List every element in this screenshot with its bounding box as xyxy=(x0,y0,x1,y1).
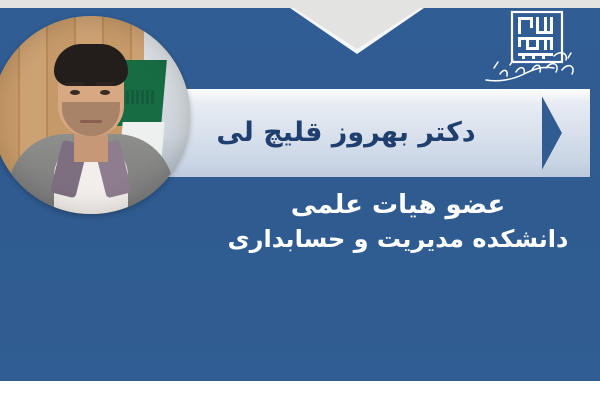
name-ribbon: دکتر بهروز قلیچ لی xyxy=(150,89,590,177)
university-logo xyxy=(482,10,586,90)
portrait-photo xyxy=(0,16,190,214)
role-title: عضو هیات علمی xyxy=(196,190,600,222)
role-block: عضو هیات علمی دانشکده مدیریت و حسابداری xyxy=(196,190,600,254)
faculty-name: دکتر بهروز قلیچ لی xyxy=(150,89,542,177)
faculty-profile-card: دکتر بهروز قلیچ لی عضو هیات علمی xyxy=(0,0,600,400)
portrait-vignette xyxy=(0,16,190,214)
ribbon-tail-notch xyxy=(538,89,590,177)
role-faculty: دانشکده مدیریت و حسابداری xyxy=(196,224,600,255)
